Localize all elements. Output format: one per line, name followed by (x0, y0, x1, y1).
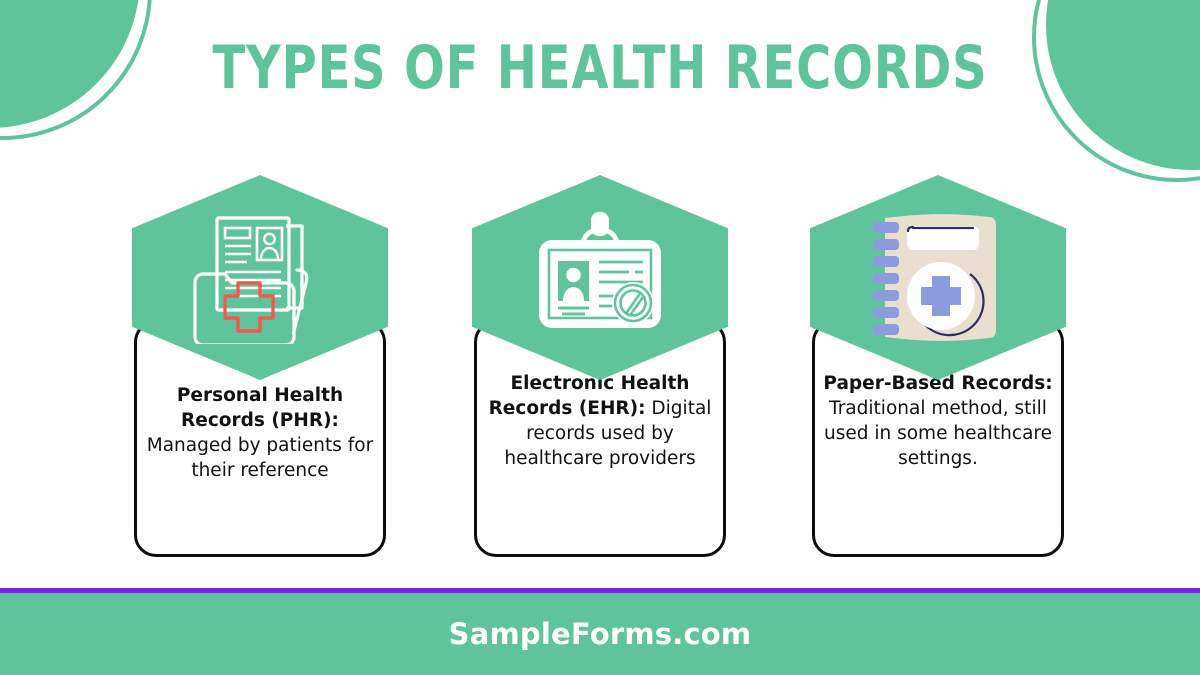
card-phr-text: Personal Health Records (PHR): Managed b… (145, 383, 375, 483)
cards-row: Personal Health Records (PHR): Managed b… (0, 165, 1200, 565)
card-ehr-text: Electronic Health Records (EHR): Digital… (485, 371, 715, 471)
top-left-circle-decoration (0, 0, 140, 128)
card-phr-body: Managed by patients for their reference (147, 435, 373, 481)
infographic-canvas: TYPES OF HEALTH RECORDS Personal Health … (0, 0, 1200, 675)
card-phr-heading: Personal Health Records (PHR): (177, 385, 343, 431)
card-paper-body: Traditional method, still used in some h… (824, 398, 1052, 469)
footer-band: SampleForms.com (0, 593, 1200, 675)
page-title: TYPES OF HEALTH RECORDS (120, 33, 1080, 103)
card-paper-text: Paper-Based Records: Traditional method,… (823, 371, 1053, 471)
footer-brand-text: SampleForms.com (449, 617, 752, 651)
